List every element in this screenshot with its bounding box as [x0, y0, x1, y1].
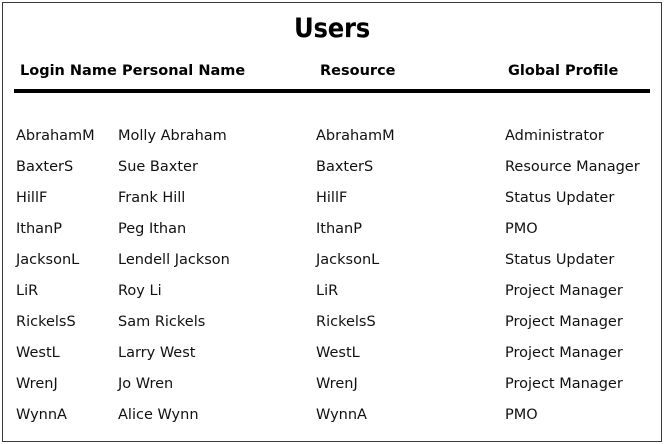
table-row[interactable]: BaxterSSue BaxterBaxterSResource Manager	[0, 159, 664, 190]
table-row[interactable]: AbrahamMMolly AbrahamAbrahamMAdministrat…	[0, 128, 664, 159]
cell-personal_name: Lendell Jackson	[118, 252, 230, 268]
cell-resource: RickelsS	[316, 314, 376, 330]
table-row[interactable]: RickelsSSam RickelsRickelsSProject Manag…	[0, 314, 664, 345]
table-row[interactable]: WynnAAlice WynnWynnAPMO	[0, 407, 664, 438]
cell-personal_name: Jo Wren	[118, 376, 173, 392]
cell-login_name: RickelsS	[16, 314, 76, 330]
table-header-row: Login Name Personal Name Resource Global…	[0, 62, 664, 82]
table-row[interactable]: LiRRoy LiLiRProject Manager	[0, 283, 664, 314]
cell-global_profile: Resource Manager	[505, 159, 640, 175]
cell-personal_name: Roy Li	[118, 283, 162, 299]
cell-login_name: HillF	[16, 190, 47, 206]
cell-resource: LiR	[316, 283, 338, 299]
table-row[interactable]: WrenJJo WrenWrenJProject Manager	[0, 376, 664, 407]
cell-global_profile: PMO	[505, 221, 538, 237]
table-row[interactable]: IthanPPeg IthanIthanPPMO	[0, 221, 664, 252]
cell-resource: WrenJ	[316, 376, 358, 392]
cell-resource: HillF	[316, 190, 347, 206]
cell-login_name: LiR	[16, 283, 38, 299]
cell-global_profile: Administrator	[505, 128, 604, 144]
cell-resource: WynnA	[316, 407, 367, 423]
cell-login_name: WrenJ	[16, 376, 58, 392]
column-header-login-name[interactable]: Login Name	[20, 62, 117, 80]
cell-personal_name: Sue Baxter	[118, 159, 198, 175]
cell-personal_name: Molly Abraham	[118, 128, 227, 144]
cell-global_profile: Project Manager	[505, 283, 623, 299]
cell-login_name: WestL	[16, 345, 60, 361]
cell-global_profile: Project Manager	[505, 376, 623, 392]
cell-global_profile: Status Updater	[505, 190, 614, 206]
cell-global_profile: Project Manager	[505, 314, 623, 330]
table-row[interactable]: JacksonLLendell JacksonJacksonLStatus Up…	[0, 252, 664, 283]
cell-login_name: WynnA	[16, 407, 67, 423]
page-title: Users	[0, 13, 664, 45]
cell-personal_name: Peg Ithan	[118, 221, 186, 237]
table-row[interactable]: WestLLarry WestWestLProject Manager	[0, 345, 664, 376]
cell-global_profile: Project Manager	[505, 345, 623, 361]
cell-personal_name: Frank Hill	[118, 190, 185, 206]
table-row[interactable]: HillFFrank HillHillFStatus Updater	[0, 190, 664, 221]
cell-global_profile: PMO	[505, 407, 538, 423]
cell-login_name: BaxterS	[16, 159, 73, 175]
cell-login_name: IthanP	[16, 221, 62, 237]
cell-resource: BaxterS	[316, 159, 373, 175]
cell-resource: WestL	[316, 345, 360, 361]
table-body: AbrahamMMolly AbrahamAbrahamMAdministrat…	[0, 128, 664, 438]
users-report-page: Users Login Name Personal Name Resource …	[0, 0, 664, 444]
cell-personal_name: Sam Rickels	[118, 314, 205, 330]
cell-login_name: JacksonL	[16, 252, 79, 268]
header-separator-rule	[14, 89, 650, 93]
cell-global_profile: Status Updater	[505, 252, 614, 268]
column-header-resource[interactable]: Resource	[320, 62, 396, 80]
cell-resource: AbrahamM	[316, 128, 395, 144]
column-header-global-profile[interactable]: Global Profile	[508, 62, 618, 80]
cell-resource: IthanP	[316, 221, 362, 237]
cell-resource: JacksonL	[316, 252, 379, 268]
column-header-personal-name[interactable]: Personal Name	[122, 62, 245, 80]
cell-personal_name: Larry West	[118, 345, 195, 361]
cell-login_name: AbrahamM	[16, 128, 95, 144]
cell-personal_name: Alice Wynn	[118, 407, 199, 423]
